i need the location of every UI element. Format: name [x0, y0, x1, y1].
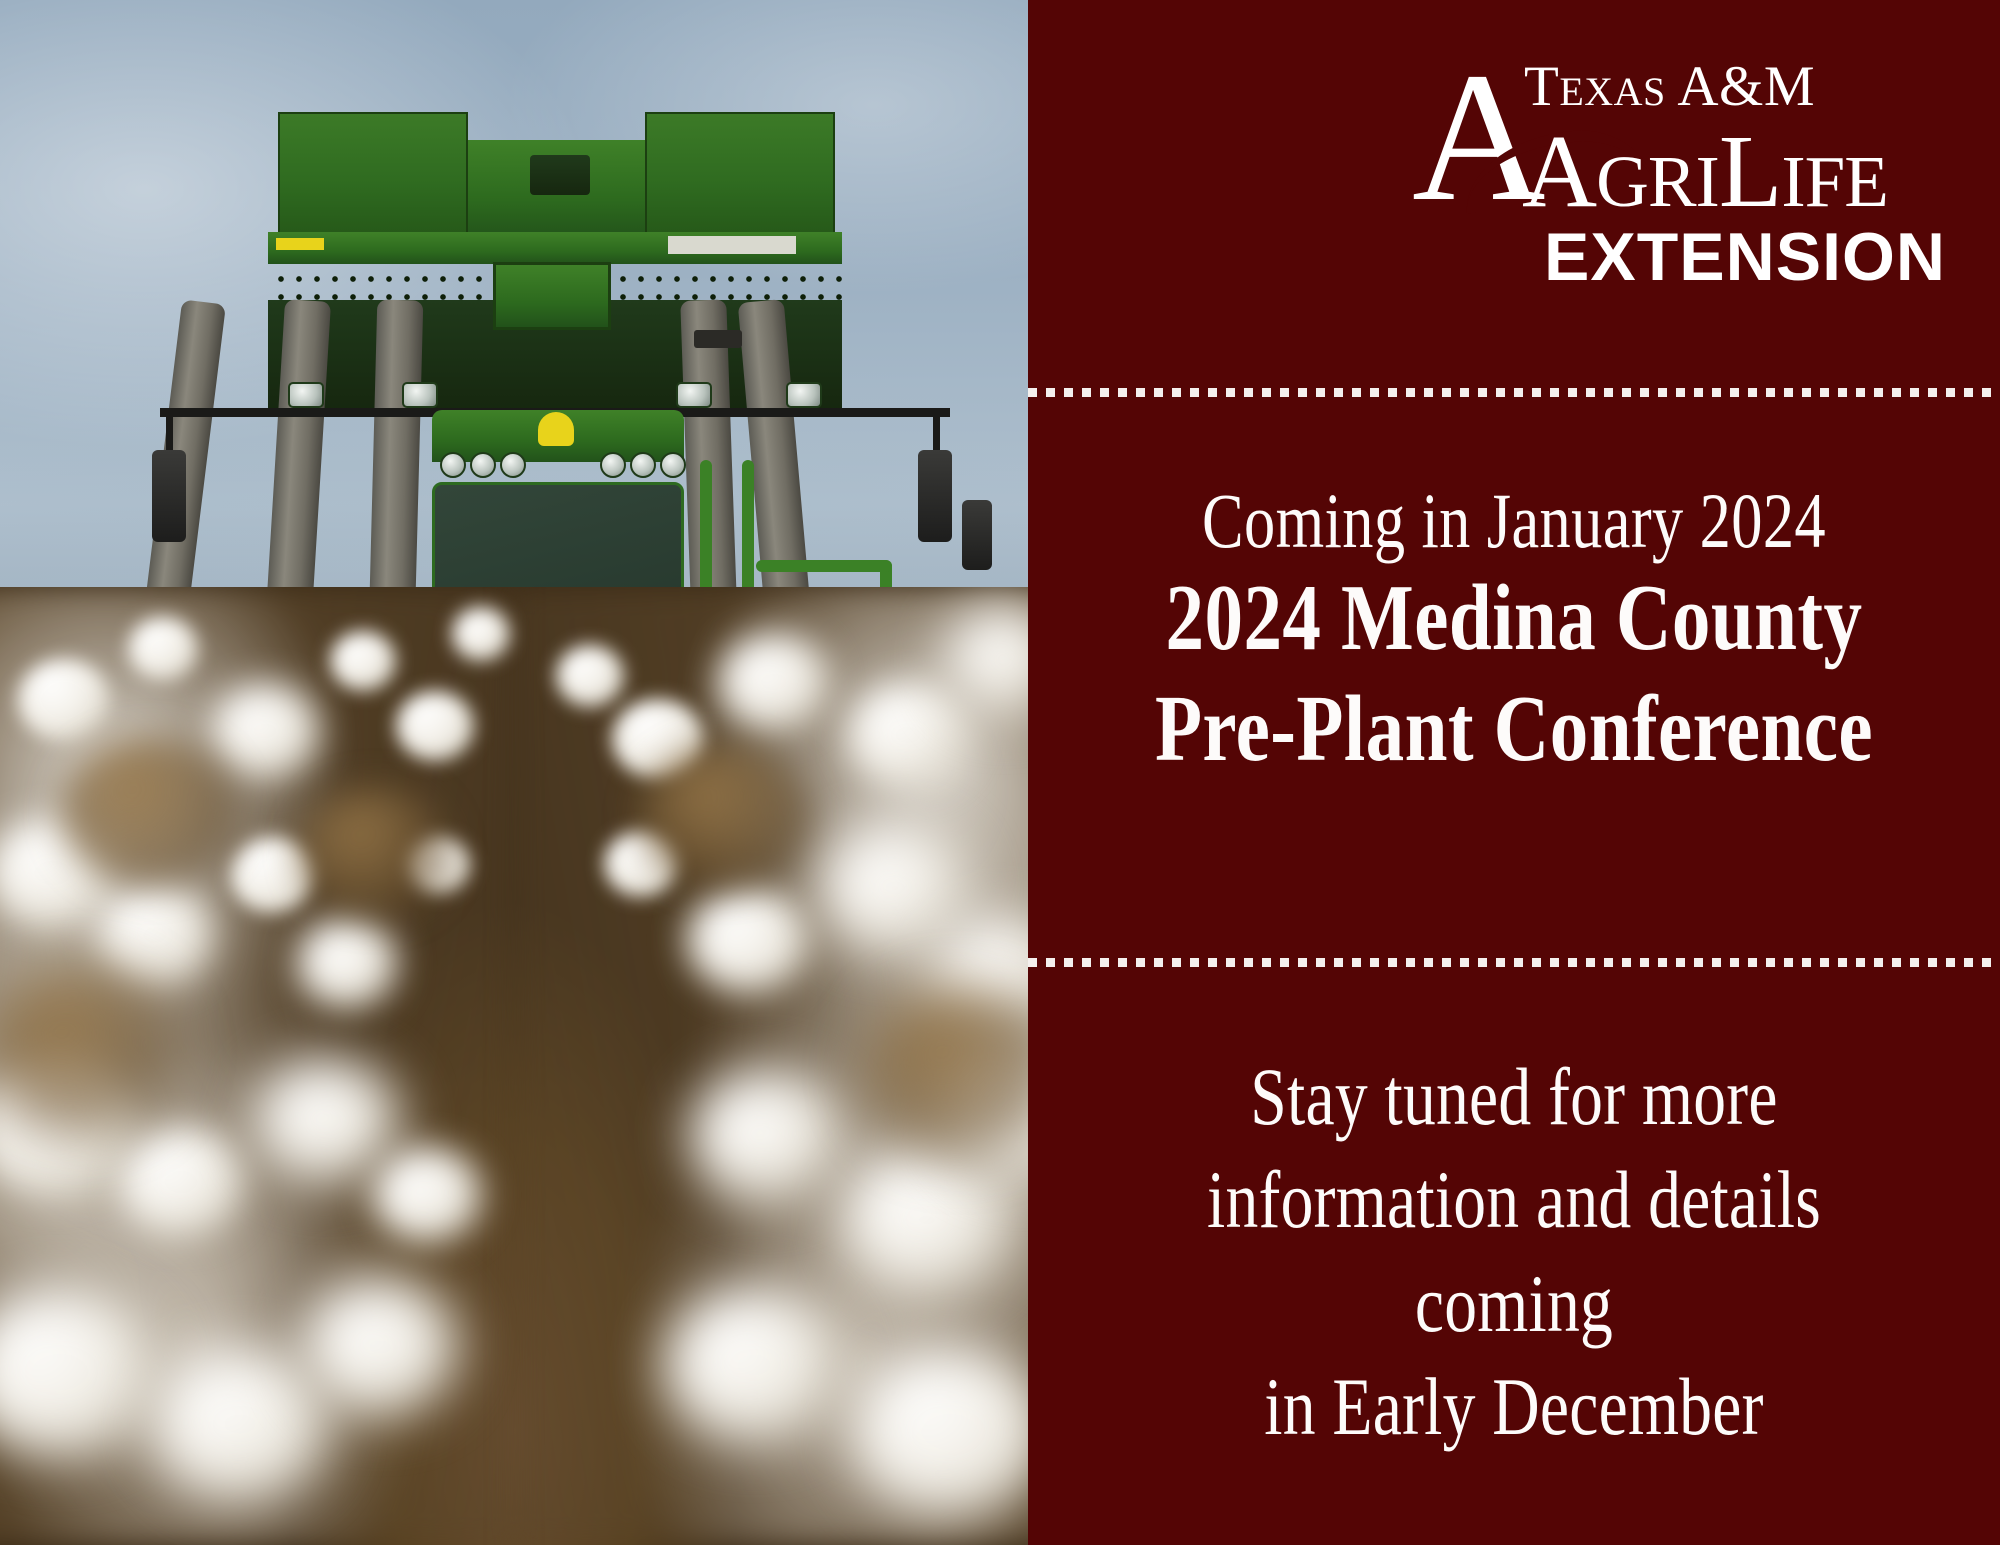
cotton-field-foreground	[0, 587, 1028, 1545]
cotton-boll	[252, 1057, 402, 1185]
cab-lamp-5	[630, 452, 656, 478]
roof-lamp-midright	[676, 382, 712, 408]
cotton-harvest-photo: ✦	[0, 0, 1028, 1545]
cab-lamp-1	[440, 452, 466, 478]
cotton-boll	[296, 917, 398, 1009]
cotton-boll	[118, 1127, 244, 1237]
cab-lamp-6	[660, 452, 686, 478]
cab-lamp-3	[500, 452, 526, 478]
stay-tuned-line-4: in Early December	[1125, 1355, 1903, 1458]
basket-right	[645, 112, 835, 242]
mirror-right-outer	[962, 500, 992, 570]
cab-lamp-4	[600, 452, 626, 478]
cotton-boll	[688, 1069, 844, 1203]
stay-tuned-line-3: coming	[1125, 1252, 1903, 1355]
platform-guard-top	[756, 560, 892, 572]
stay-tuned-line-2: information and details	[1125, 1148, 1903, 1251]
cotton-boll	[18, 659, 110, 741]
logo-line-texas-am: Texas A&M	[1524, 58, 1815, 115]
cotton-boll	[372, 1147, 482, 1243]
duct-band-3	[694, 330, 742, 348]
stay-tuned-block: Stay tuned for more information and deta…	[1028, 1045, 2000, 1458]
deck-stripe-left	[276, 238, 324, 250]
basket-center-grille	[530, 155, 590, 195]
logo-line-extension: EXTENSION	[1544, 223, 1946, 291]
cotton-boll	[128, 617, 198, 681]
cotton-boll	[718, 633, 830, 731]
roof-lamp-left	[288, 382, 324, 408]
center-inspection-box	[493, 262, 611, 330]
dotted-divider-top	[1028, 388, 2000, 397]
promo-poster: ✦	[0, 0, 2000, 1545]
dotted-divider-bottom	[1028, 958, 2000, 967]
cotton-plant-foliage	[300, 787, 450, 917]
cotton-boll	[820, 823, 970, 953]
cotton-boll	[664, 1287, 844, 1443]
cotton-boll	[330, 631, 396, 691]
cotton-boll	[686, 887, 810, 993]
cotton-plant-foliage	[60, 737, 240, 887]
info-panel: A Texas A&M AgriLife EXTENSION Coming in…	[1028, 0, 2000, 1545]
cotton-boll	[556, 645, 624, 707]
cotton-boll	[396, 691, 474, 761]
mirror-left	[152, 450, 186, 542]
event-title-line-1: 2024 Medina County	[1115, 563, 1912, 674]
logo-line-agrilife: AgriLife	[1522, 120, 1888, 224]
main-announcement-block: Coming in January 2024 2024 Medina Count…	[1028, 480, 2000, 784]
warning-decals	[668, 236, 796, 254]
mirror-right	[918, 450, 952, 542]
cotton-plant-foliage	[640, 747, 810, 887]
basket-left	[278, 112, 468, 242]
cotton-boll	[150, 1347, 330, 1501]
cotton-boll	[848, 683, 968, 787]
cab-lamp-2	[470, 452, 496, 478]
beacon-light	[538, 412, 574, 446]
announcement-kicker: Coming in January 2024	[1125, 480, 1903, 563]
logo-mark-row: A Texas A&M AgriLife EXTENSION	[1402, 58, 1922, 128]
cotton-boll	[210, 683, 320, 779]
cotton-boll	[300, 1277, 460, 1417]
cotton-boll	[452, 607, 510, 661]
roof-lamp-midleft	[402, 382, 438, 408]
roof-lamp-right	[786, 382, 822, 408]
event-title-line-2: Pre-Plant Conference	[1115, 674, 1912, 785]
texas-am-agrilife-extension-logo: A Texas A&M AgriLife EXTENSION	[1402, 58, 1922, 128]
stay-tuned-line-1: Stay tuned for more	[1125, 1045, 1903, 1148]
